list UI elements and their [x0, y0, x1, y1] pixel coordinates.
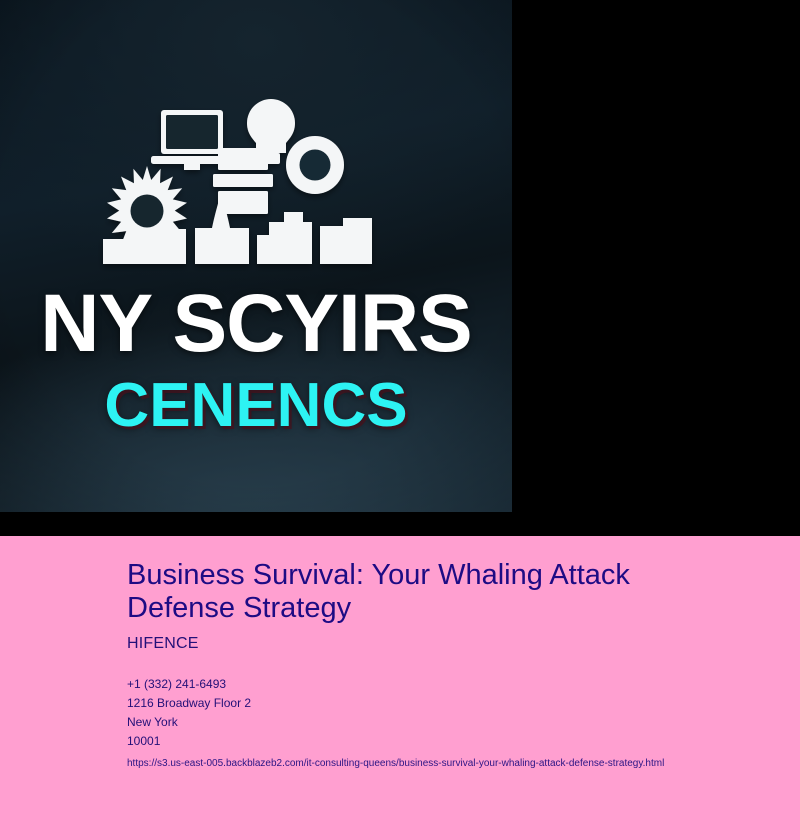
page-root: NY SCYIRS CENENCS Business Survival: You…	[0, 0, 800, 840]
hero-headline-secondary: CENENCS	[104, 375, 407, 437]
hero-headline-primary: NY SCYIRS	[40, 283, 472, 365]
page-title: Business Survival: Your Whaling Attack D…	[127, 559, 727, 625]
contact-block: +1 (332) 241-6493 1216 Broadway Floor 2 …	[127, 675, 760, 751]
source-url[interactable]: https://s3.us-east-005.backblazeb2.com/i…	[127, 757, 760, 771]
hero-text-block: NY SCYIRS CENENCS	[0, 0, 512, 512]
info-panel-content: Business Survival: Your Whaling Attack D…	[127, 559, 760, 771]
contact-city: New York	[127, 713, 760, 732]
brand-name: HIFENCE	[127, 634, 760, 653]
info-panel: Business Survival: Your Whaling Attack D…	[0, 536, 800, 840]
contact-phone: +1 (332) 241-6493	[127, 675, 760, 694]
hero-cover-image: NY SCYIRS CENENCS	[0, 0, 512, 512]
black-separator-band	[0, 512, 800, 536]
contact-zip: 10001	[127, 732, 760, 751]
contact-street: 1216 Broadway Floor 2	[127, 694, 760, 713]
